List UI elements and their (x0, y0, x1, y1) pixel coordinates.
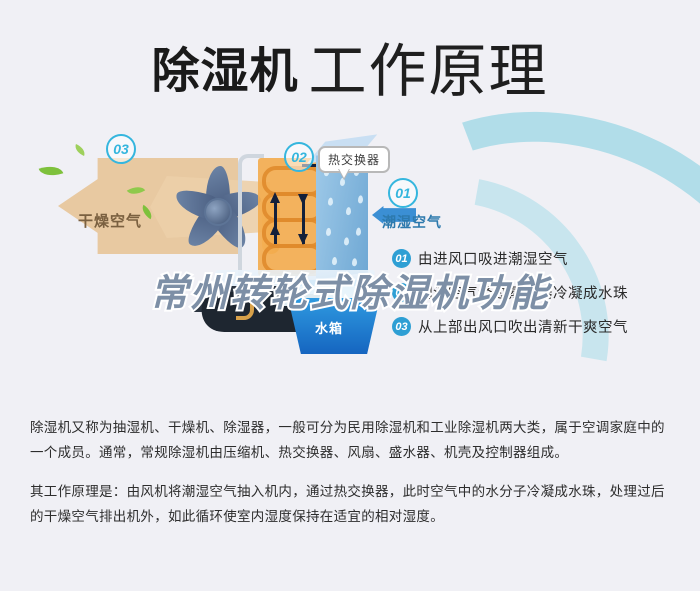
page-title-light: 工作原理 (309, 37, 549, 105)
legend-text-03: 从上部出风口吹出清新干爽空气 (418, 316, 628, 337)
water-droplet-icon (340, 178, 345, 187)
water-droplet-icon (346, 207, 351, 216)
up-arrow-icon (270, 224, 280, 235)
article-paragraph-2: 其工作原理是：由风机将潮湿空气抽入机内，通过热交换器，此时空气中的水分子冷凝成水… (30, 480, 670, 530)
legend-text-02: 潮湿空气经过蒸发器冷凝成水珠 (418, 282, 628, 303)
water-droplet-icon (326, 228, 331, 237)
water-tank-label: 水箱 (315, 318, 343, 337)
legend-list: 01 由进风口吸进潮湿空气 02 潮湿空气经过蒸发器冷凝成水珠 03 从上部出风… (392, 248, 692, 350)
article-body: 除湿机又称为抽湿机、干燥机、除湿器，一般可分为民用除湿机和工业除湿机两大类，属于… (30, 416, 670, 544)
up-arrow-icon (270, 192, 280, 203)
dry-air-label: 干燥空气 (78, 210, 142, 231)
water-droplet-icon (352, 258, 357, 267)
condenser-coil-block (258, 158, 322, 276)
water-droplet-icon (358, 195, 363, 204)
legend-item-01: 01 由进风口吸进潮湿空气 (392, 248, 692, 269)
page-title-strong: 除湿机 (151, 45, 298, 98)
legend-text-01: 由进风口吸进潮湿空气 (418, 248, 568, 269)
legend-badge-03: 03 (392, 317, 411, 336)
diagram-marker-02: 02 (284, 142, 314, 172)
water-droplet-icon (332, 257, 337, 266)
page-title: 除湿机工作原理 (0, 24, 700, 108)
legend-badge-02: 02 (392, 283, 411, 302)
fan-hub (204, 198, 232, 226)
callout-pointer-icon (338, 167, 350, 178)
down-arrow-icon (298, 194, 308, 205)
heat-exchanger-callout: 热交换器 (318, 146, 390, 173)
legend-item-02: 02 潮湿空气经过蒸发器冷凝成水珠 (392, 282, 692, 303)
legend-badge-01: 01 (392, 249, 411, 268)
water-droplet-icon (344, 237, 349, 246)
leaf-icon (39, 162, 64, 180)
water-droplet-icon (356, 227, 361, 236)
legend-item-03: 03 从上部出风口吹出清新干爽空气 (392, 316, 692, 337)
down-arrow-icon (298, 234, 308, 245)
humid-air-label: 潮湿空气 (382, 212, 442, 232)
diagram-marker-01: 01 (388, 178, 418, 208)
flow-line (274, 200, 277, 244)
diagram-marker-03: 03 (106, 134, 136, 164)
drain-pipe (236, 282, 254, 320)
water-droplet-icon (328, 197, 333, 206)
article-paragraph-1: 除湿机又称为抽湿机、干燥机、除湿器，一般可分为民用除湿机和工业除湿机两大类，属于… (30, 416, 670, 466)
leaf-icon (73, 144, 87, 156)
